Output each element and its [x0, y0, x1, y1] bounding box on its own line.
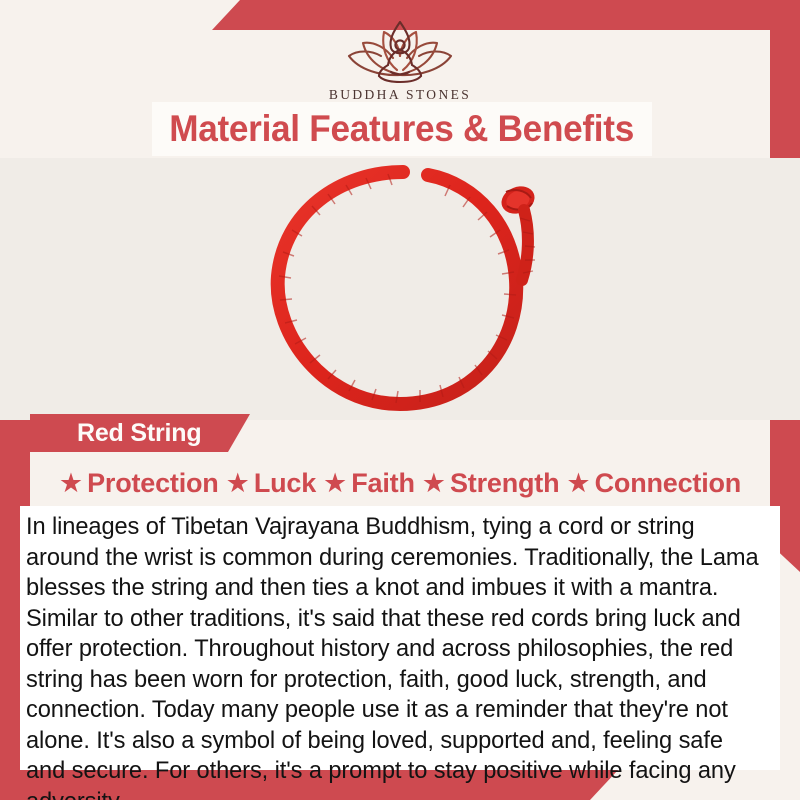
benefit-item-faith: ★ Faith	[323, 468, 415, 499]
star-icon: ★	[566, 470, 590, 497]
description-text: In lineages of Tibetan Vajrayana Buddhis…	[26, 512, 759, 800]
benefits-list: ★ Protection ★ Luck ★ Faith ★ Strength ★…	[0, 460, 800, 506]
lotus-meditation-icon	[341, 12, 459, 84]
page-title: Material Features & Benefits	[170, 108, 635, 150]
material-ribbon: Red String	[30, 414, 250, 452]
material-label: Red String	[77, 419, 201, 448]
brand-logo: BUDDHA STONES	[0, 12, 800, 103]
star-icon: ★	[422, 470, 446, 497]
benefit-label: Strength	[450, 468, 559, 499]
benefit-item-strength: ★ Strength	[422, 468, 560, 499]
title-banner: Material Features & Benefits	[152, 102, 652, 156]
product-image-area	[0, 158, 800, 420]
red-braided-string-bracelet-icon	[248, 158, 558, 420]
star-icon: ★	[226, 470, 250, 497]
benefit-label: Protection	[87, 468, 219, 499]
star-icon: ★	[59, 470, 83, 497]
description-panel: In lineages of Tibetan Vajrayana Buddhis…	[20, 506, 780, 770]
benefit-label: Luck	[254, 468, 316, 499]
star-icon: ★	[323, 470, 347, 497]
benefit-item-connection: ★ Connection	[566, 468, 741, 499]
benefit-item-luck: ★ Luck	[226, 468, 316, 499]
brand-wordmark: BUDDHA STONES	[329, 87, 471, 103]
benefit-label: Faith	[351, 468, 415, 499]
benefit-item-protection: ★ Protection	[59, 468, 219, 499]
benefit-label: Connection	[595, 468, 742, 499]
infographic-page: BUDDHA STONES Material Features & Benefi…	[0, 0, 800, 800]
